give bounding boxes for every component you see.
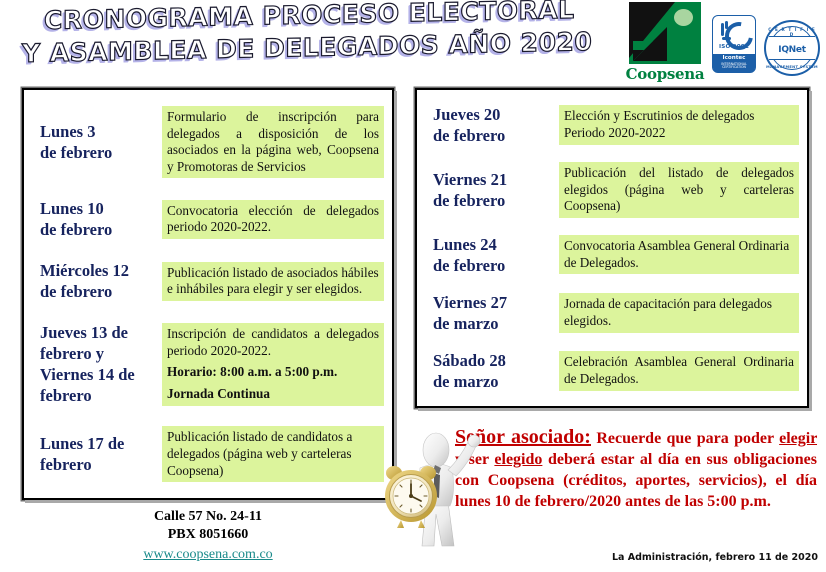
- schedule-description-text: Publicación listado de candidatos a dele…: [167, 429, 352, 477]
- schedule-description-text: Publicación listado de asociados hábiles…: [167, 265, 379, 297]
- associate-notice: Señor asociado: Recuerde que para poder …: [455, 424, 817, 512]
- schedule-box-left: Lunes 3 de febreroFormulario de inscripc…: [22, 88, 394, 500]
- schedule-date: Jueves 20 de febrero: [423, 104, 555, 146]
- schedule-description: Convocatoria elección de delegados perio…: [162, 200, 384, 239]
- schedule-date: Lunes 3 de febrero: [30, 121, 158, 163]
- schedule-description: Jornada de capacitación para delegados e…: [559, 293, 799, 332]
- schedule-date: Lunes 10 de febrero: [30, 198, 158, 240]
- schedule-description: Convocatoria Asamblea General Ordinaria …: [559, 235, 799, 274]
- schedule-date: Miércoles 12 de febrero: [30, 260, 158, 302]
- schedule-row: Viernes 27 de marzoJornada de capacitaci…: [423, 292, 799, 334]
- icontec-label: Icontec INTERNATIONAL CERTIFICATION: [713, 54, 755, 72]
- notice-emphasis-elegido: elegido: [494, 451, 542, 468]
- schedule-row: Miércoles 12 de febreroPublicación lista…: [30, 260, 384, 302]
- schedule-description-text: Convocatoria elección de delegados perio…: [167, 203, 379, 235]
- coopsena-mark-icon: [629, 2, 701, 64]
- schedule-description: Formulario de inscripción para delegados…: [162, 106, 384, 179]
- schedule-row: Sábado 28 de marzoCelebración Asamblea G…: [423, 350, 799, 392]
- schedule-row: Lunes 10 de febreroConvocatoria elección…: [30, 198, 384, 240]
- schedule-box-right: Jueves 20 de febreroElección y Escrutini…: [415, 88, 809, 408]
- coopsena-wordmark: Coopsena: [626, 65, 705, 83]
- schedule-description: Publicación listado de asociados hábiles…: [162, 262, 384, 301]
- schedule-description-bold-line: Horario: 8:00 a.m. a 5:00 p.m.: [167, 364, 379, 381]
- schedule-description-text: Convocatoria Asamblea General Ordinaria …: [564, 238, 789, 270]
- schedule-rows-left: Lunes 3 de febreroFormulario de inscripc…: [24, 90, 392, 498]
- notice-emphasis-elegir: elegir: [779, 430, 817, 447]
- iqnet-name: IQNet: [778, 45, 805, 55]
- schedule-description: Publicación listado de candidatos a dele…: [162, 426, 384, 482]
- administration-signature: La Administración, febrero 11 de 2020: [612, 552, 818, 563]
- iqnet-badge: C E R T I F I E D IQNet MANAGEMENT SYSTE…: [764, 20, 820, 76]
- schedule-date: Jueves 13 de febrero y Viernes 14 de feb…: [30, 322, 158, 406]
- notice-text-1: Recuerde que para poder: [591, 430, 779, 447]
- contact-website-link[interactable]: www.coopsena.com.co: [143, 545, 272, 565]
- person-with-clock-illustration: [378, 418, 490, 550]
- schedule-row: Lunes 3 de febreroFormulario de inscripc…: [30, 106, 384, 179]
- contact-phone: PBX 8051660: [22, 526, 394, 544]
- schedule-description: Inscripción de candidatos a delegados pe…: [162, 323, 384, 406]
- schedule-date: Viernes 27 de marzo: [423, 292, 555, 334]
- contact-block: Calle 57 No. 24-11 PBX 8051660 www.coops…: [22, 508, 394, 565]
- schedule-description: Celebración Asamblea General Ordinaria d…: [559, 351, 799, 390]
- schedule-row: Viernes 21 de febreroPublicación del lis…: [423, 162, 799, 218]
- logo-area: Coopsena ISO 9001 Icontec INTERNATIONAL …: [604, 2, 820, 90]
- schedule-description-text: Inscripción de candidatos a delegados pe…: [167, 326, 379, 358]
- icontec-sub: INTERNATIONAL CERTIFICATION: [713, 63, 755, 69]
- schedule-description-text: Publicación del listado de delegados ele…: [564, 165, 794, 213]
- contact-address: Calle 57 No. 24-11: [22, 508, 394, 526]
- schedule-row: Lunes 17 de febreroPublicación listado d…: [30, 426, 384, 482]
- schedule-description-text: Jornada de capacitación para delegados e…: [564, 296, 772, 328]
- coopsena-logo: Coopsena: [626, 2, 704, 83]
- schedule-rows-right: Jueves 20 de febreroElección y Escrutini…: [417, 90, 807, 406]
- sun-circle-icon: [674, 9, 693, 26]
- iqnet-arc-bottom: MANAGEMENT SYSTEM: [766, 65, 818, 69]
- schedule-description-text: Formulario de inscripción para delegados…: [167, 109, 379, 174]
- schedule-row: Jueves 20 de febreroElección y Escrutini…: [423, 104, 799, 146]
- poster-title: CRONOGRAMA PROCESO ELECTORAL Y ASAMBLEA …: [18, 4, 598, 70]
- schedule-description-text: Elección y Escrutinios de delegados Peri…: [564, 108, 754, 140]
- schedule-description-text: Celebración Asamblea General Ordinaria d…: [564, 354, 794, 386]
- poster-page: CRONOGRAMA PROCESO ELECTORAL Y ASAMBLEA …: [0, 0, 826, 572]
- schedule-date: Lunes 17 de febrero: [30, 433, 158, 475]
- iqnet-core: IQNet: [769, 36, 815, 60]
- icontec-name: Icontec: [722, 55, 745, 61]
- schedule-description: Elección y Escrutinios de delegados Peri…: [559, 105, 799, 144]
- schedule-row: Lunes 24 de febreroConvocatoria Asamblea…: [423, 234, 799, 276]
- schedule-row: Jueves 13 de febrero y Viernes 14 de feb…: [30, 322, 384, 406]
- schedule-date: Lunes 24 de febrero: [423, 234, 555, 276]
- iso-9001-badge: ISO 9001 Icontec INTERNATIONAL CERTIFICA…: [712, 15, 756, 73]
- schedule-date: Sábado 28 de marzo: [423, 350, 555, 392]
- icontec-swirl-icon: [721, 20, 747, 38]
- schedule-date: Viernes 21 de febrero: [423, 169, 555, 211]
- schedule-description-bold-line: Jornada Continua: [167, 386, 379, 403]
- schedule-description: Publicación del listado de delegados ele…: [559, 162, 799, 218]
